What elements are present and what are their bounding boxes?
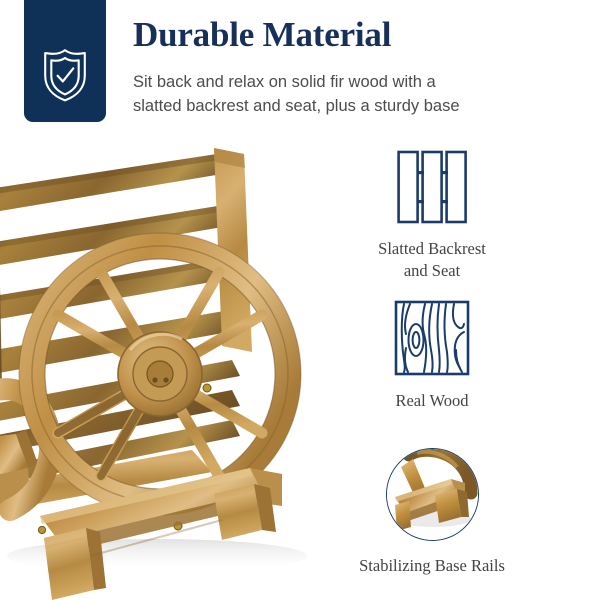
description-line-1: Sit back and relax on solid fir wood wit… [133,70,563,94]
slatted-panel-icon [317,150,547,224]
wagon-wheel-bench-photo [0,138,342,600]
feature-caption-line-1: Real Wood [317,390,547,412]
feature-caption: Stabilizing Base Rails [317,555,547,577]
shield-check-icon [39,46,91,104]
feature-stabilizing-base-rails: Stabilizing Base Rails [317,448,547,577]
base-rail-circle-photo [386,448,479,541]
page-description: Sit back and relax on solid fir wood wit… [133,70,563,119]
wood-grain-icon [317,300,547,376]
feature-caption: Slatted Backrest and Seat [317,238,547,282]
shield-badge [24,0,106,122]
feature-caption-line-1: Stabilizing Base Rails [317,555,547,577]
feature-real-wood: Real Wood [317,300,547,412]
feature-slatted-backrest: Slatted Backrest and Seat [317,150,547,282]
base-rail-photo-icon [317,448,547,541]
feature-caption: Real Wood [317,390,547,412]
feature-caption-line-1: Slatted Backrest [317,238,547,260]
page-title: Durable Material [133,16,391,55]
infographic-canvas: Durable Material Sit back and relax on s… [0,0,600,600]
feature-caption-line-2: and Seat [317,260,547,282]
description-line-2: slatted backrest and seat, plus a sturdy… [133,94,563,118]
